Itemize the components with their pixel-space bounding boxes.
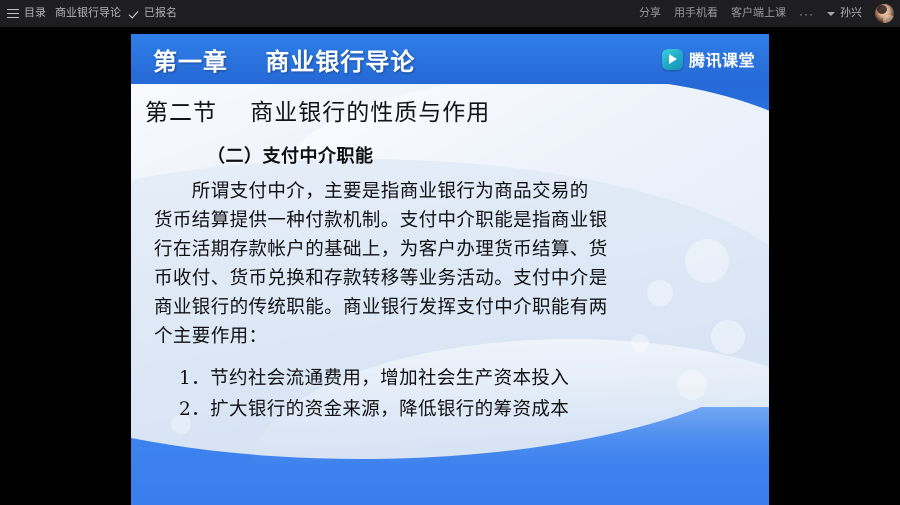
paragraph-line: 个主要作用： <box>154 322 714 351</box>
chevron-down-icon <box>827 12 835 16</box>
user-name: 孙兴 <box>840 8 862 19</box>
slide-header: 第一章 商业银行导论 腾讯课堂 <box>131 34 769 84</box>
video-stage[interactable]: 第一章 商业银行导论 腾讯课堂 第二节 商业银行的性质与作用 （二）支付中介职能… <box>0 27 900 505</box>
paragraph-line: 所谓支付中介，主要是指商业银行为商品交易的 <box>154 177 714 206</box>
paragraph-line: 货币结算提供一种付款机制。支付中介职能是指商业银 <box>154 206 714 235</box>
paragraph-line: 币收付、货币兑换和存款转移等业务活动。支付中介是 <box>154 264 714 293</box>
list-item: 2．扩大银行的资金来源，降低银行的筹资成本 <box>179 394 769 425</box>
mobile-view-button[interactable]: 用手机看 <box>674 8 718 19</box>
course-player-window: 目录 商业银行导论 已报名 分享 用手机看 客户端上课 ··· 孙兴 <box>0 0 900 505</box>
body-paragraph: 所谓支付中介，主要是指商业银行为商品交易的 货币结算提供一种付款机制。支付中介职… <box>154 177 714 351</box>
avatar[interactable] <box>875 4 894 23</box>
slide-body: 第二节 商业银行的性质与作用 （二）支付中介职能 所谓支付中介，主要是指商业银行… <box>131 84 769 425</box>
paragraph-line: 行在活期存款帐户的基础上，为客户办理货币结算、货 <box>154 235 714 264</box>
check-icon <box>130 9 140 19</box>
user-menu[interactable]: 孙兴 <box>827 8 862 19</box>
client-class-button[interactable]: 客户端上课 <box>731 8 786 19</box>
section-title: 第二节 商业银行的性质与作用 <box>145 93 769 127</box>
catalog-menu-button[interactable]: 目录 <box>7 8 46 20</box>
sub-section-title: （二）支付中介职能 <box>207 142 769 168</box>
top-bar-left-group: 目录 商业银行导论 已报名 <box>7 8 177 20</box>
course-title[interactable]: 商业银行导论 <box>55 8 121 19</box>
hamburger-icon[interactable] <box>7 8 19 20</box>
letterbox-right <box>769 27 900 505</box>
catalog-label: 目录 <box>24 8 46 19</box>
top-bar-right-group: 分享 用手机看 客户端上课 ··· 孙兴 <box>639 4 894 23</box>
share-button[interactable]: 分享 <box>639 8 661 19</box>
bullet-list: 1．节约社会流通费用，增加社会生产资本投入 2．扩大银行的资金来源，降低银行的筹… <box>179 363 769 425</box>
letterbox-left <box>0 27 131 505</box>
chapter-title: 第一章 商业银行导论 <box>153 42 415 77</box>
brand-name: 腾讯课堂 <box>689 47 755 71</box>
top-bar: 目录 商业银行导论 已报名 分享 用手机看 客户端上课 ··· 孙兴 <box>0 0 900 27</box>
paragraph-line: 商业银行的传统职能。商业银行发挥支付中介职能有两 <box>154 293 714 322</box>
list-item: 1．节约社会流通费用，增加社会生产资本投入 <box>179 363 769 394</box>
slide-content: 第一章 商业银行导论 腾讯课堂 第二节 商业银行的性质与作用 （二）支付中介职能… <box>131 34 769 505</box>
more-options-icon[interactable]: ··· <box>799 8 814 20</box>
enrolled-status[interactable]: 已报名 <box>130 8 177 19</box>
enrolled-label: 已报名 <box>144 8 177 19</box>
brand-logo: 腾讯课堂 <box>662 47 755 71</box>
play-icon <box>662 49 683 70</box>
